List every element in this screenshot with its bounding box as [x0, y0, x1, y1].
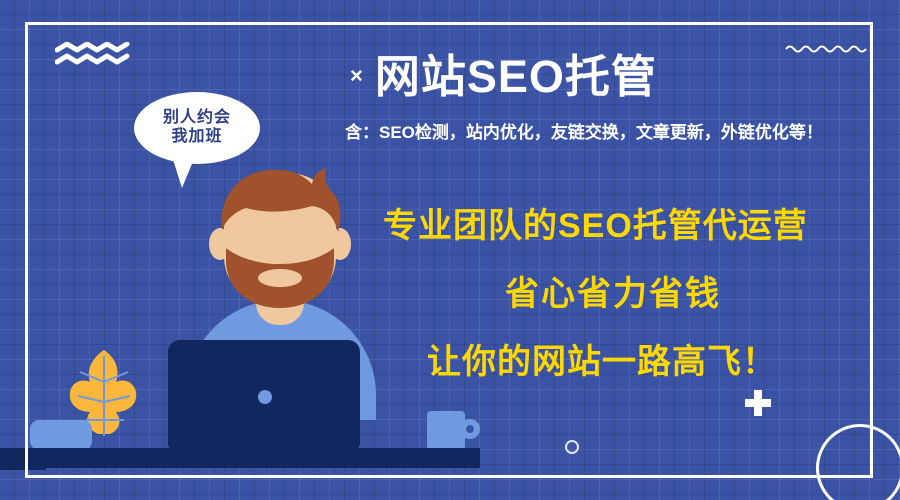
plus-mark-icon [745, 390, 771, 416]
corner-circle-icon [816, 424, 900, 500]
title-row: × 网站SEO托管 [350, 46, 870, 106]
small-circle-icon [565, 440, 579, 454]
page-subtitle: 含：SEO检测，站内优化，友链交换，文章更新，外链优化等！ [345, 118, 875, 143]
title-bullet-icon: × [350, 65, 363, 87]
slogan-line-3: 让你的网站一路高飞！ [427, 334, 777, 383]
slogan-line-1: 专业团队的SEO托管代运营 [383, 198, 808, 247]
seo-poster: 别人约会 我加班 × 网站SEO托管 含：SEO检测，站内优化，友链交换，文章更… [0, 0, 900, 500]
page-title: 网站SEO托管 [375, 54, 657, 99]
slogan-line-2: 省心省力省钱 [505, 266, 721, 315]
